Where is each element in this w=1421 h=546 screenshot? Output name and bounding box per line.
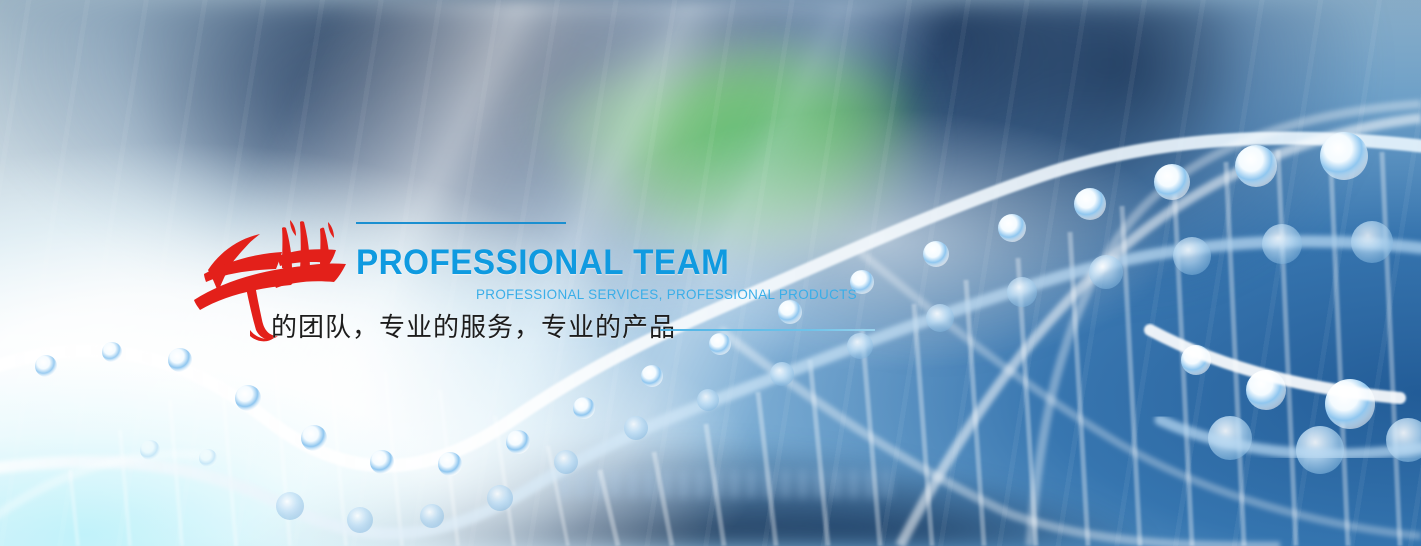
banner-content: PROFESSIONAL TEAM PROFESSIONAL SERVICES,… [0,0,1421,546]
page-title: PROFESSIONAL TEAM [356,243,729,283]
hero-banner: PROFESSIONAL TEAM PROFESSIONAL SERVICES,… [0,0,1421,546]
decor-rule-bottom [660,329,875,331]
chinese-tagline: 的团队，专业的服务，专业的产品 [271,307,676,344]
decor-rule-top [356,222,566,224]
page-subtitle: PROFESSIONAL SERVICES, PROFESSIONAL PROD… [476,286,857,302]
